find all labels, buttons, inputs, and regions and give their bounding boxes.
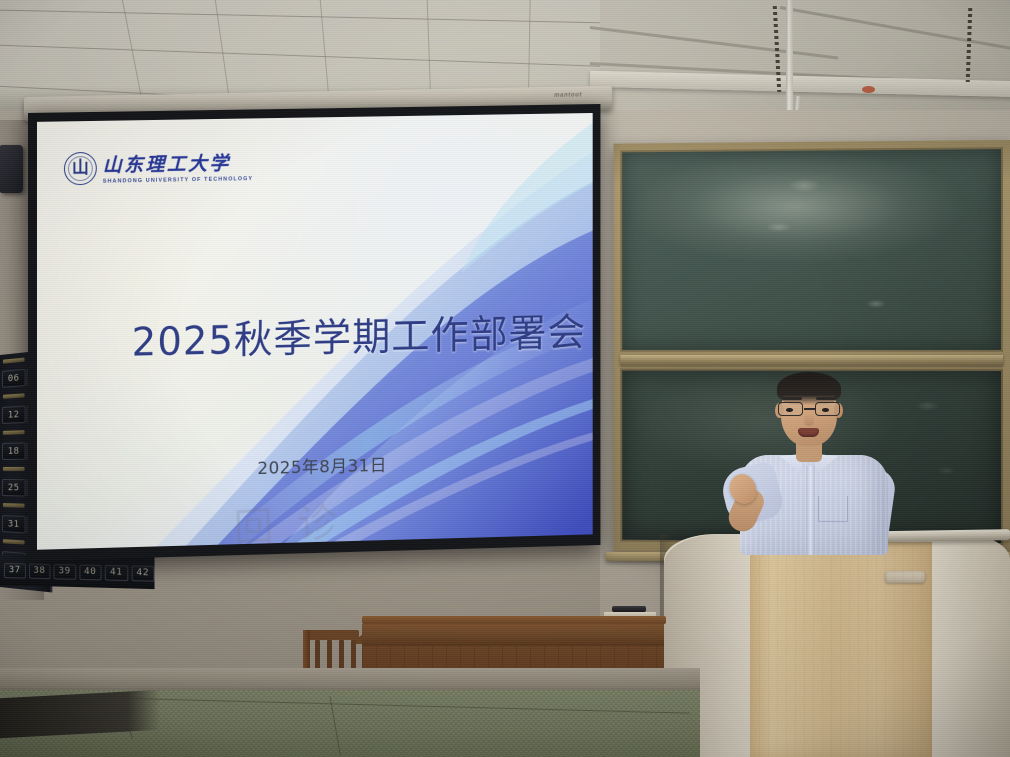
blackboard-upper-panel [620,147,1003,352]
teacher-desk-edge [362,624,664,646]
university-name-cn: 山东理工大学 [103,148,253,177]
seat-number: 38 [29,563,51,579]
presenter-eye-left [786,408,793,412]
podium-plaque [885,571,925,583]
projector-screen: 回 诊 山 山东理工大学 SHANDONG UNIVERSITY OF TECH… [28,104,600,561]
seat-number: 18 [2,442,26,460]
presentation-slide: 回 诊 山 山东理工大学 SHANDONG UNIVERSITY OF TECH… [37,113,593,550]
seat-number: 40 [79,564,102,580]
floor-shadow-area [0,690,160,738]
presenter-nose [804,414,814,426]
ceiling-slab-right [600,0,1010,128]
presenter [718,370,928,555]
presenter-eye-right [822,408,829,412]
blackboard-divider [620,355,1003,366]
seal-glyph: 山 [72,160,89,177]
seat-number: 06 [2,369,26,388]
wall-speaker-icon [0,145,23,193]
remote-control-icon [612,606,646,612]
projector-brand-label: mantout [554,92,582,99]
seat-number: 31 [2,515,26,533]
seat-number: 25 [2,479,26,497]
seat-number-row-bottom: 37 38 39 40 41 42 [0,555,155,589]
podium-right-side [932,534,1010,757]
podium-front-panel [750,542,932,757]
seat-number: 41 [105,564,128,580]
podium [664,534,1010,757]
presenter-mouth [798,428,819,437]
presenter-shirt-placket [806,466,815,555]
seat-number: 12 [2,406,26,424]
presenter-shirt-pocket [818,496,848,522]
seat-number: 42 [131,565,154,581]
ceiling-marker-dot [862,86,875,93]
presenter-hair [777,372,841,405]
slide-date: 2025年8月31日 [257,451,387,479]
classroom-photo-scene: 06 12 18 25 31 37 05 11 17 24 30 37 38 3… [0,0,1010,757]
university-seal-icon: 山 [64,151,97,185]
slide-title: 2025秋季学期工作部署会 [132,302,587,367]
teacher-desk-top [362,616,666,624]
presenter-brow-left [782,397,802,400]
presenter-brow-right [816,397,836,400]
university-logo: 山 山东理工大学 SHANDONG UNIVERSITY OF TECHNOLO… [64,148,253,185]
seat-number: 39 [53,563,75,579]
seat-number: 37 [4,563,26,579]
microphone-pole [786,0,793,128]
